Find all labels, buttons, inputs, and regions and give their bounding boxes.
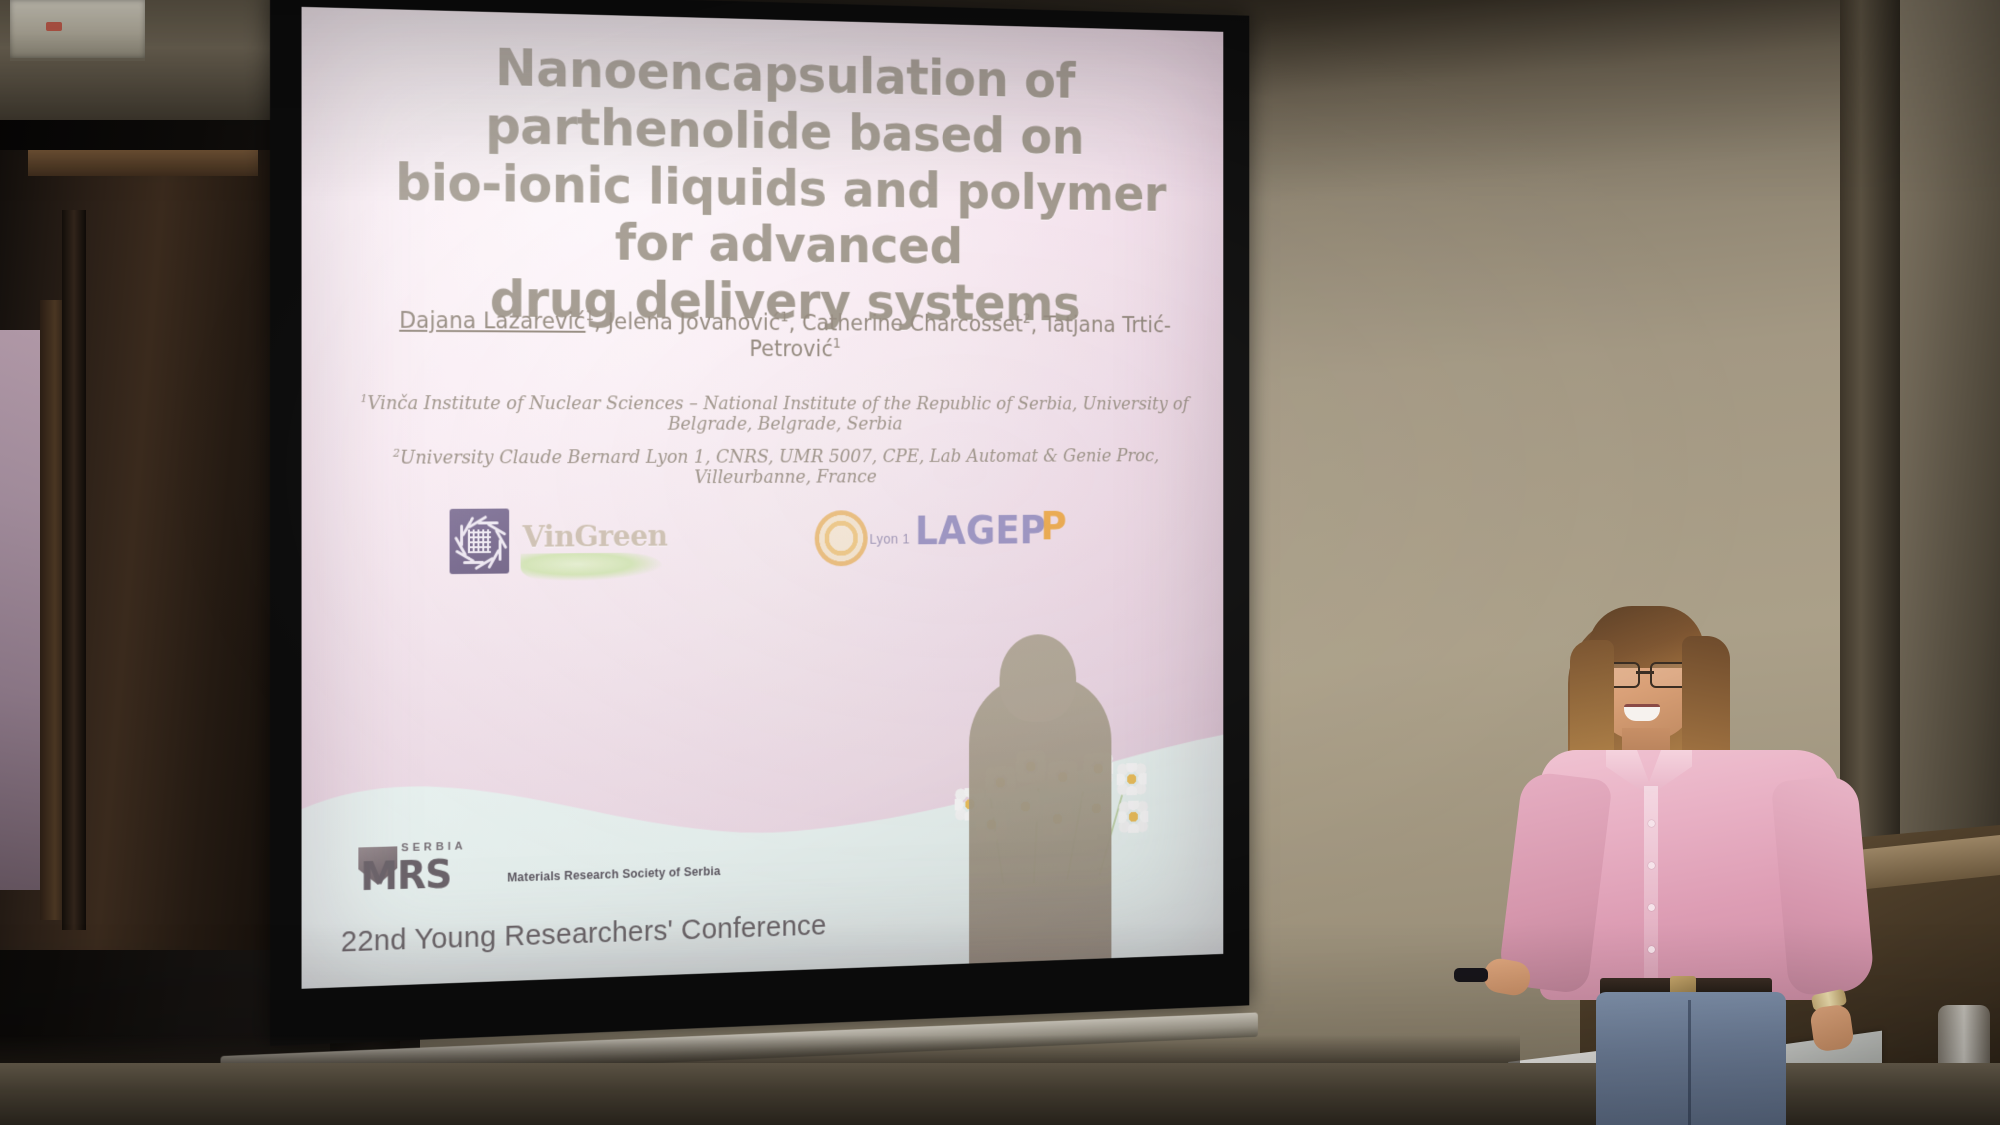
presenter-jeans xyxy=(1596,992,1786,1125)
affiliation-2-marker: 2 xyxy=(393,446,400,460)
mrs-logo: SERBIA MRS xyxy=(358,840,493,900)
affiliation-2-text: University Claude Bernard Lyon 1, CNRS, … xyxy=(400,446,1159,488)
presenter-shadow-on-screen xyxy=(969,675,1111,964)
presenter-smile xyxy=(1624,704,1660,721)
lyon1-icon xyxy=(815,510,868,566)
slide-title: Nanoencapsulation of parthenolide based … xyxy=(351,36,1206,333)
vingreen-wordmark: VinGreen xyxy=(523,519,668,554)
affiliation-1-text: Vinča Institute of Nuclear Sciences – Na… xyxy=(367,393,1188,434)
projection-screen: Nanoencapsulation of parthenolide based … xyxy=(270,0,1249,1046)
slide-logo-row: VinGreen Lyon 1 LAGEP P xyxy=(302,500,1224,585)
door-frame-outer xyxy=(62,210,86,930)
vingreen-leaf-icon xyxy=(521,552,663,581)
coauthor-2-marker: 1 xyxy=(780,310,788,326)
screenshot-root: Nanoencapsulation of parthenolide based … xyxy=(0,0,2000,1125)
lagepp-wordmark: LAGEP xyxy=(915,509,1046,554)
coauthor-2: , Jelena Jovanović xyxy=(594,309,780,335)
vent-indicator-light xyxy=(46,22,62,31)
slide-authors: Dajana Lazarević1, Jelena Jovanović1, Ca… xyxy=(360,307,1206,363)
presenter xyxy=(1540,600,1840,1125)
slide-title-line-2: bio-ionic liquids and polymer for advanc… xyxy=(351,153,1206,278)
ceiling-vent xyxy=(10,0,145,61)
presentation-slide: Nanoencapsulation of parthenolide based … xyxy=(302,7,1224,989)
affiliation-1: 1Vinča Institute of Nuclear Sciences – N… xyxy=(341,391,1206,435)
presenter-shirt-placket xyxy=(1644,786,1658,986)
presenter-hand-right xyxy=(1809,1003,1855,1052)
coauthor-3-marker: 2 xyxy=(1023,311,1031,326)
daisy-flower xyxy=(1117,763,1147,796)
lead-author-name: Dajana Lazarević xyxy=(399,307,585,334)
mrs-serbia-label: SERBIA xyxy=(401,840,466,854)
vinca-institute-icon xyxy=(450,509,510,575)
mrs-wordmark: MRS xyxy=(360,853,451,900)
affiliation-2: 2University Claude Bernard Lyon 1, CNRS,… xyxy=(341,444,1206,490)
coauthor-4-marker: 1 xyxy=(833,336,841,351)
daisy-flower xyxy=(1118,800,1148,833)
presentation-clicker xyxy=(1454,968,1488,982)
glasses-bridge xyxy=(1636,671,1654,674)
vinca-grid xyxy=(468,529,491,553)
lagepp-accent-letter: P xyxy=(1041,505,1067,549)
coauthor-3: , Catherine Charcosset xyxy=(789,310,1023,336)
slide-title-line-1: Nanoencapsulation of parthenolide based … xyxy=(351,36,1206,168)
wood-trim xyxy=(28,150,258,176)
vinca-sun-glyph xyxy=(457,518,501,564)
mrs-footer-block: SERBIA MRS Materials Research Society of… xyxy=(358,833,720,899)
screen-canvas: Nanoencapsulation of parthenolide based … xyxy=(302,7,1224,989)
lyon1-label: Lyon 1 xyxy=(870,531,910,547)
presenter-jeans-seam xyxy=(1688,1000,1691,1125)
